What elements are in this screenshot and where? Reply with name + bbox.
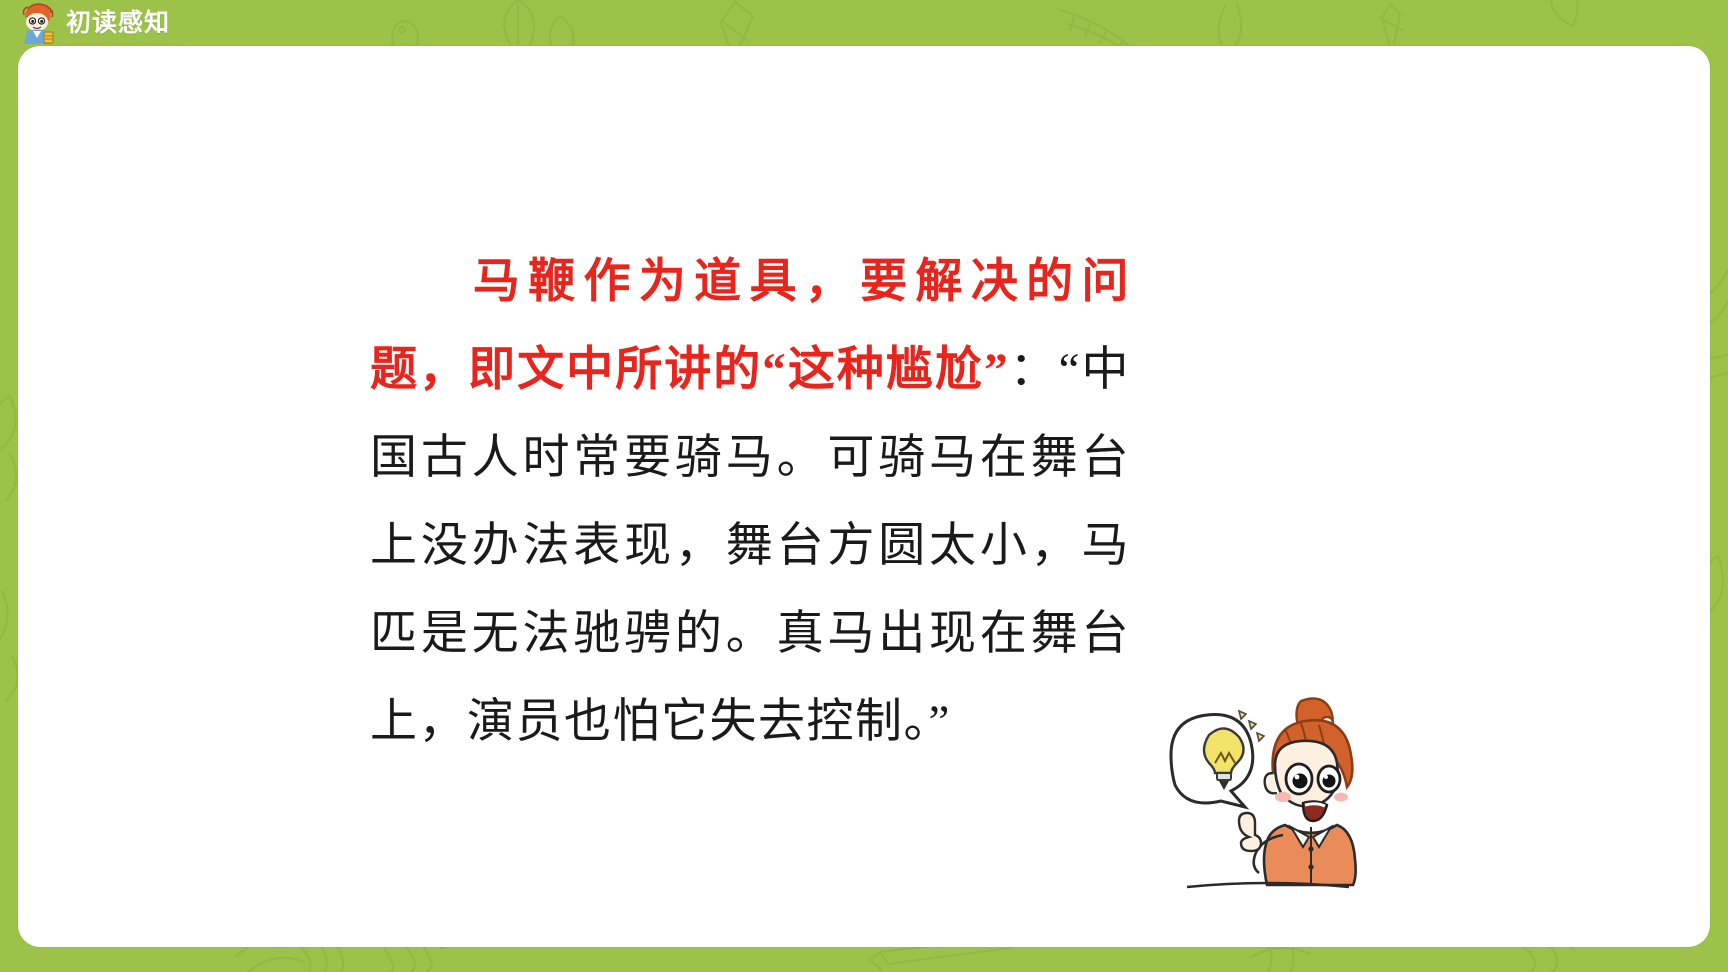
slide-root: 初读感知 马鞭作为道具，要解决的问题，即文中所讲的“这种尴尬”：“中国古人时常要… — [0, 0, 1728, 972]
girl-with-lightbulb-idea — [1165, 677, 1365, 892]
quoted-explanation: ：“中国古人时常要骑马。可骑马在舞台上没办法表现，舞台方圆太小，马匹是无法驰骋的… — [370, 344, 1130, 748]
speech-bubble-icon — [1171, 711, 1264, 807]
header: 初读感知 — [0, 0, 170, 46]
passage-text: 马鞭作为道具，要解决的问题，即文中所讲的“这种尴尬”：“中国古人时常要骑马。可骑… — [370, 238, 1130, 766]
page-title: 初读感知 — [66, 11, 170, 36]
content-card: 马鞭作为道具，要解决的问题，即文中所讲的“这种尴尬”：“中国古人时常要骑马。可骑… — [18, 46, 1710, 947]
student-mascot-icon — [14, 1, 60, 45]
